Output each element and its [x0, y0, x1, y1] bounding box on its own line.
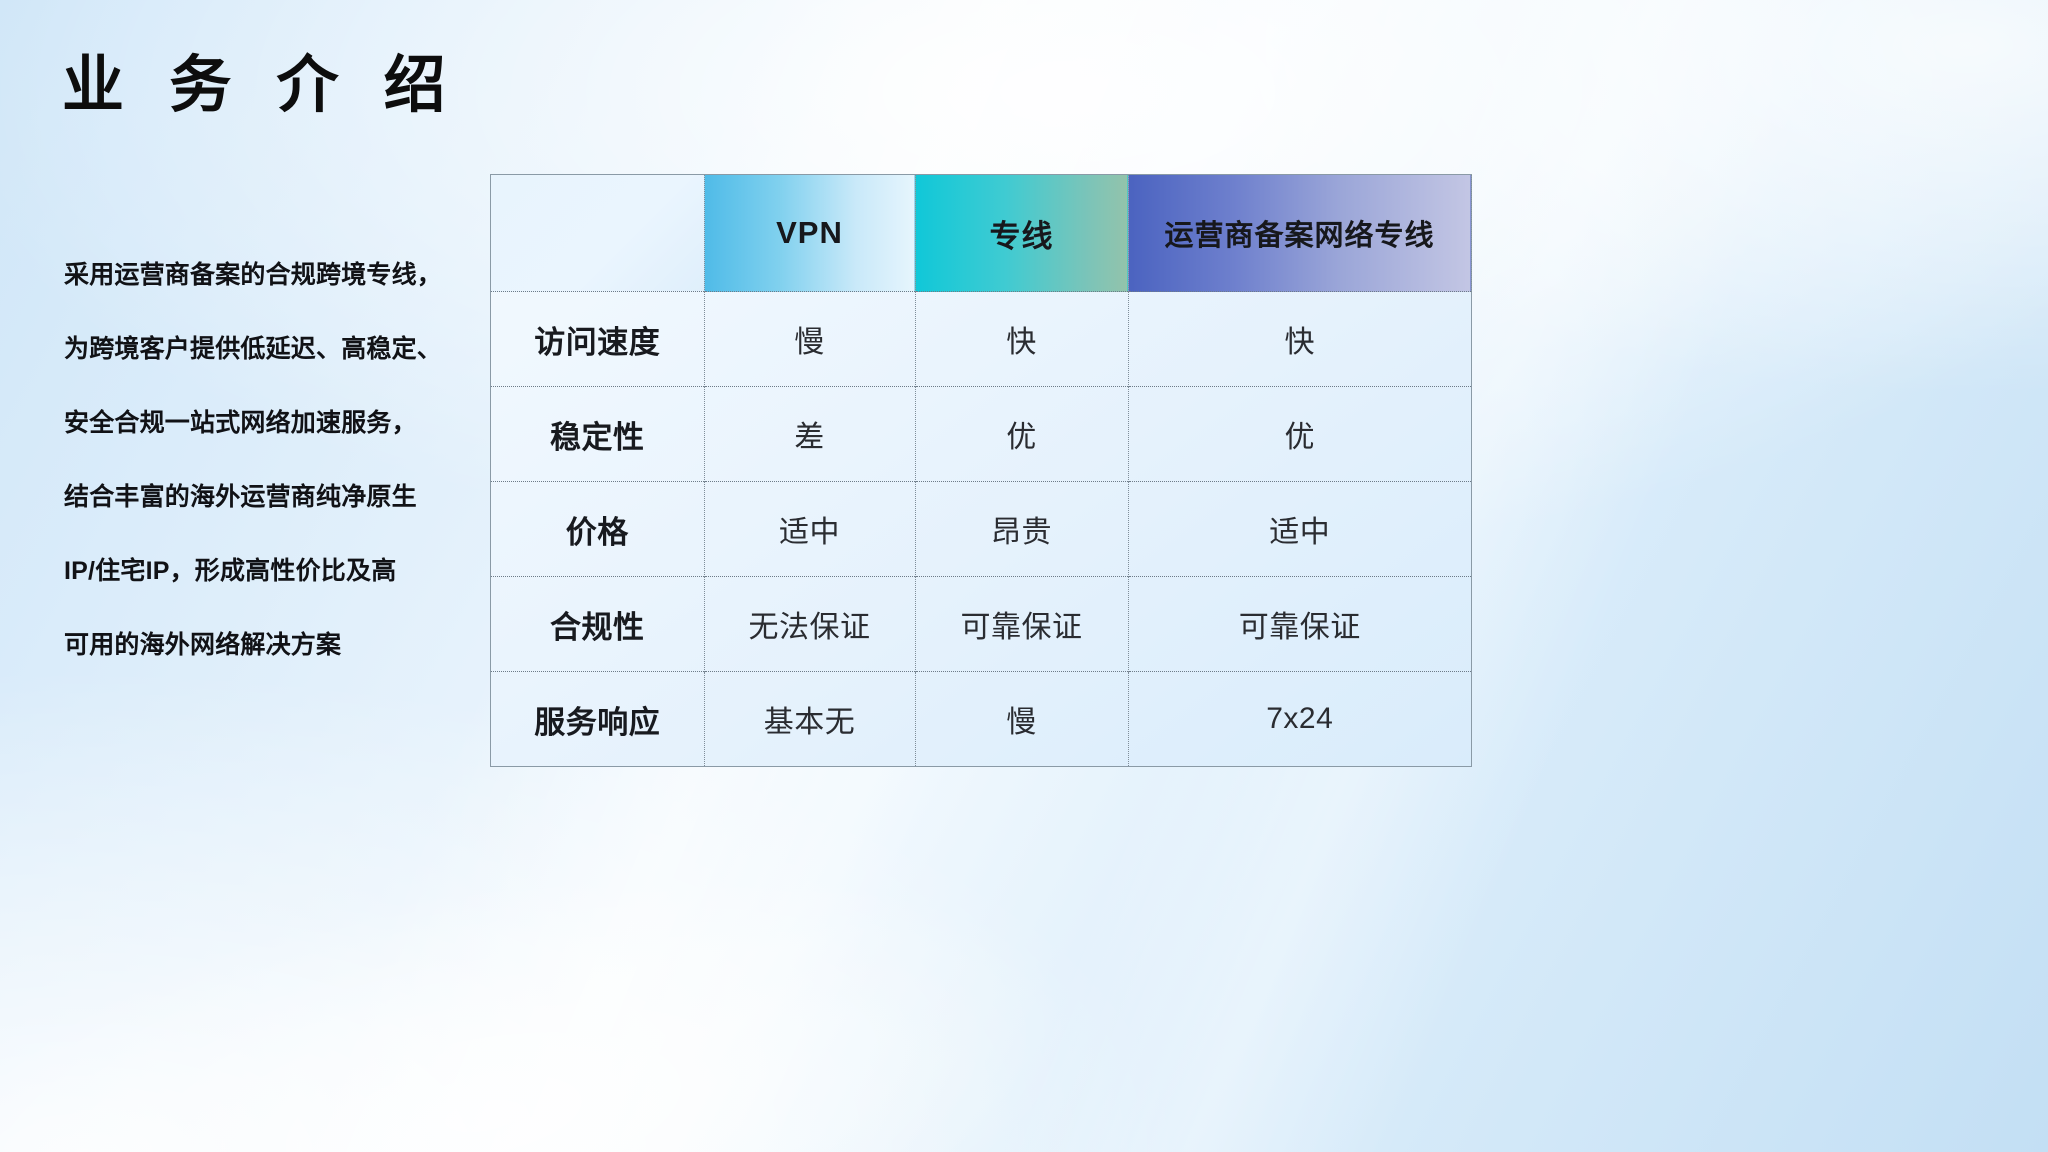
- slide-canvas: 业 务 介 绍 采用运营商备案的合规跨境专线， 为跨境客户提供低延迟、高稳定、 …: [0, 0, 2048, 1152]
- table-row: 价格 适中 昂贵 适中: [491, 482, 1471, 577]
- column-header-label: 专线: [990, 219, 1054, 254]
- description-line: 为跨境客户提供低延迟、高稳定、: [64, 312, 464, 386]
- cell-value: 优: [1128, 387, 1471, 482]
- row-label: 服务响应: [491, 672, 704, 767]
- cell-value: 适中: [1128, 482, 1471, 577]
- table-header: VPN 专线 运营商备案网络专线: [491, 175, 1471, 292]
- cell-value: 昂贵: [915, 482, 1128, 577]
- cell-value: 7x24: [1128, 672, 1471, 767]
- cell-value: 慢: [704, 292, 915, 387]
- cell-value: 慢: [915, 672, 1128, 767]
- comparison-table: VPN 专线 运营商备案网络专线 访问速度 慢 快 快: [490, 174, 1472, 767]
- cell-value: 基本无: [704, 672, 915, 767]
- cell-value: 快: [1128, 292, 1471, 387]
- cell-value: 可靠保证: [1128, 577, 1471, 672]
- table-row: 服务响应 基本无 慢 7x24: [491, 672, 1471, 767]
- description-block: 采用运营商备案的合规跨境专线， 为跨境客户提供低延迟、高稳定、 安全合规一站式网…: [64, 238, 464, 682]
- row-label: 稳定性: [491, 387, 704, 482]
- cell-value: 差: [704, 387, 915, 482]
- cell-value: 无法保证: [704, 577, 915, 672]
- table-row: 合规性 无法保证 可靠保证 可靠保证: [491, 577, 1471, 672]
- table-body: 访问速度 慢 快 快 稳定性 差 优 优 价格 适中 昂贵 适中: [491, 292, 1471, 767]
- column-header-vpn: VPN: [704, 175, 915, 292]
- comparison-table-grid: VPN 专线 运营商备案网络专线 访问速度 慢 快 快: [491, 175, 1472, 766]
- table-row: 访问速度 慢 快 快: [491, 292, 1471, 387]
- column-header-dedicated-line: 专线: [915, 175, 1128, 292]
- row-label: 价格: [491, 482, 704, 577]
- table-row: 稳定性 差 优 优: [491, 387, 1471, 482]
- cell-value: 适中: [704, 482, 915, 577]
- cell-value: 可靠保证: [915, 577, 1128, 672]
- column-header-blank: [491, 175, 704, 292]
- description-line: IP/住宅IP，形成高性价比及高: [64, 534, 464, 608]
- page-title: 业 务 介 绍: [62, 52, 460, 120]
- cell-value: 优: [915, 387, 1128, 482]
- description-line: 结合丰富的海外运营商纯净原生: [64, 460, 464, 534]
- row-label: 访问速度: [491, 292, 704, 387]
- description-line: 安全合规一站式网络加速服务，: [64, 386, 464, 460]
- row-label: 合规性: [491, 577, 704, 672]
- column-header-label: VPN: [776, 215, 843, 250]
- description-line: 可用的海外网络解决方案: [64, 608, 464, 682]
- cell-value: 快: [915, 292, 1128, 387]
- description-line: 采用运营商备案的合规跨境专线，: [64, 238, 464, 312]
- column-header-carrier-line: 运营商备案网络专线: [1128, 175, 1471, 292]
- table-header-row: VPN 专线 运营商备案网络专线: [491, 175, 1471, 292]
- column-header-label: 运营商备案网络专线: [1164, 220, 1434, 252]
